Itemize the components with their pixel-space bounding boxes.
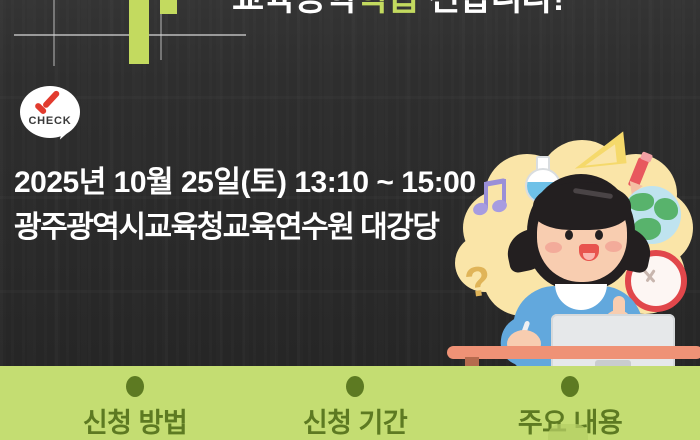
bullet-dot-icon <box>126 376 144 397</box>
event-datetime: 2025년 10월 25일(토) 13:10 ~ 15:00 <box>14 157 476 201</box>
headline-accent: 학습 <box>357 0 419 18</box>
eye-left <box>565 230 573 240</box>
bottom-nav-item-0[interactable]: 신청 방법 <box>35 366 235 440</box>
eye-right <box>595 230 603 240</box>
page-title: 교육공학학습 전합니다! <box>232 0 563 21</box>
bullet-dot-icon <box>346 376 364 397</box>
triangle-ruler-icon <box>573 134 627 170</box>
event-poster: 교육공학학습 전합니다! CHECK 2025년 10월 25일(토) 13:1… <box>0 0 700 440</box>
shelf-band-1 <box>0 96 700 99</box>
bottom-nav-band: 신청 방법 신청 기간 주요 내용 <box>0 366 700 440</box>
cheek-left <box>545 242 562 253</box>
green-accent-bar-tall <box>129 0 149 64</box>
checkmark-icon <box>36 94 62 110</box>
event-venue: 광주광역시교육청교육연수원 대강당 <box>14 202 438 246</box>
partial-shape-below-fold <box>548 424 588 440</box>
bottom-nav-label-1: 신청 기간 <box>255 401 455 440</box>
bottom-nav-label-0: 신청 방법 <box>35 401 235 440</box>
green-accent-bar-short <box>160 0 177 14</box>
headline-suffix: 전합니다! <box>419 0 563 18</box>
check-badge-label: CHECK <box>20 115 80 127</box>
music-note-icon <box>473 180 513 222</box>
headline-prefix: 교육공학 <box>232 0 357 18</box>
hair-fringe <box>533 182 631 230</box>
check-badge: CHECK <box>20 86 84 142</box>
cheek-right <box>605 241 622 252</box>
student-at-laptop-illustration: ? <box>455 138 700 366</box>
decorative-vertical-rule-left <box>53 0 55 66</box>
bottom-nav-item-1[interactable]: 신청 기간 <box>255 366 455 440</box>
desk-surface <box>447 346 700 359</box>
bullet-dot-icon <box>561 376 579 397</box>
